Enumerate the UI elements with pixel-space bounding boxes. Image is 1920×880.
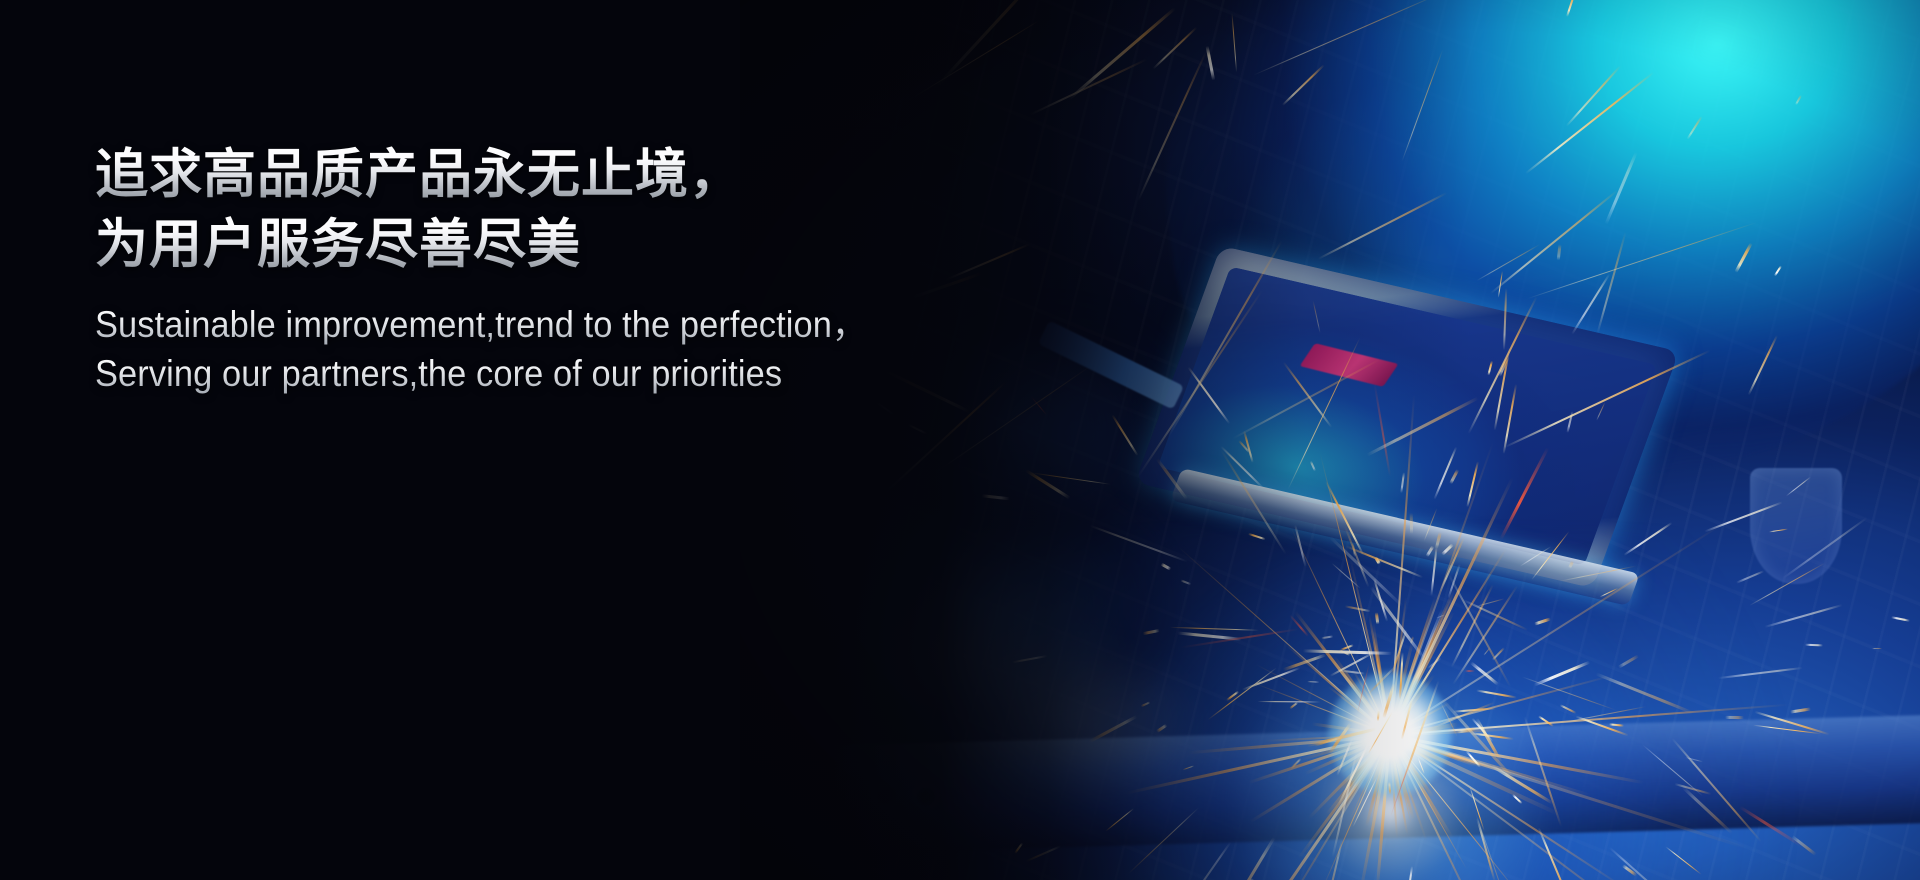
- subhead-line-1: Sustainable improvement,trend to the per…: [95, 300, 932, 349]
- hero-banner: 追求高品质产品永无止境， 为用户服务尽善尽美 Sustainable impro…: [0, 0, 1920, 880]
- subhead-block: Sustainable improvement,trend to the per…: [95, 300, 995, 398]
- spark-field: [740, 0, 1920, 880]
- headline-line-1: 追求高品质产品永无止境，: [95, 140, 995, 210]
- headline-line-2: 为用户服务尽善尽美: [95, 210, 995, 280]
- banner-copy: 追求高品质产品永无止境， 为用户服务尽善尽美 Sustainable impro…: [95, 140, 995, 398]
- welding-photo: [740, 0, 1920, 880]
- subhead-line-2: Serving our partners,the core of our pri…: [95, 349, 932, 398]
